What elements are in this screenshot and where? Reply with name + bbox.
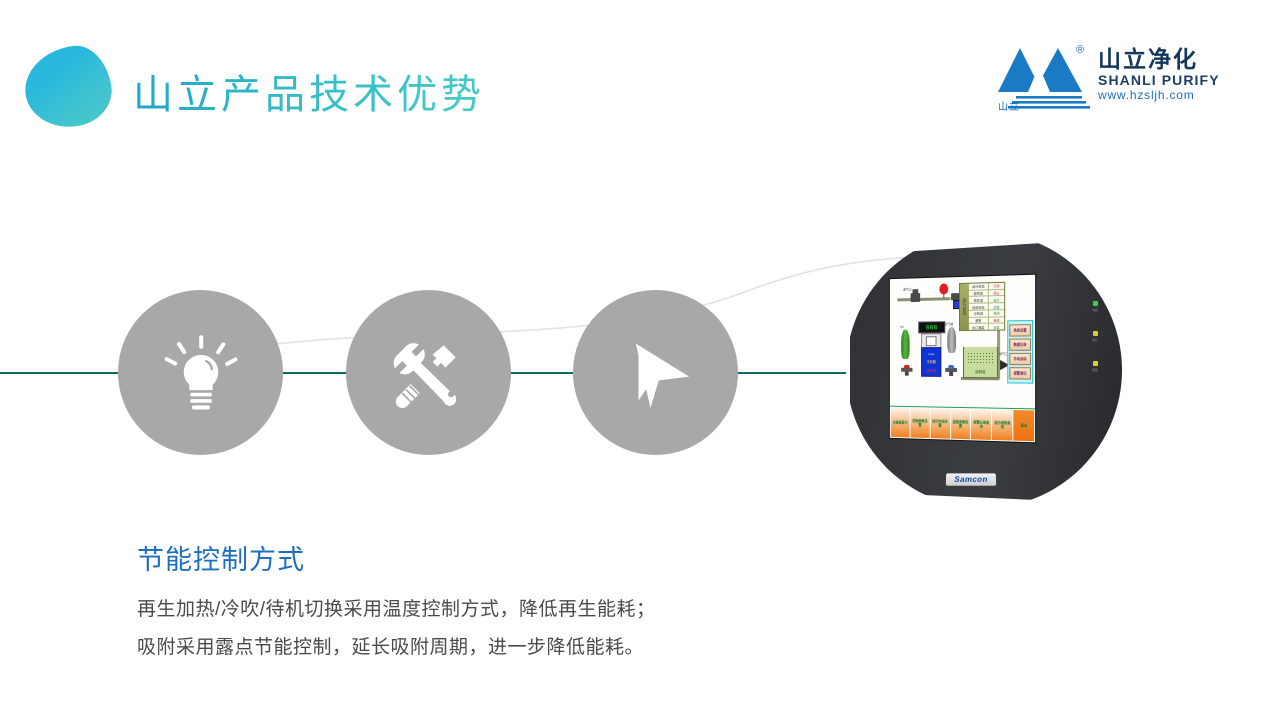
nitrogen-tank [901,330,910,359]
led-power-icon [1093,301,1098,306]
led-run-icon [1093,331,1098,336]
status-value: 停止 [989,290,1004,296]
status-rows: 运行状态 已停 吸附塔 停止 再生塔 运行 [969,283,1004,330]
hmi-tab-temp-params[interactable]: 温度参数设置 [951,409,971,439]
hmi-button-alarm-reset[interactable]: 报警复位 [1009,367,1031,379]
cooler-status-label: 运行中 [922,368,940,373]
logo-company-en: SHANLI PURIFY [1098,72,1223,88]
status-value: 正常 [989,324,1004,330]
hmi-side-button-panel: 系统设置 数据记录 手动启动 报警复位 [1007,320,1033,384]
hmi-tab-main[interactable]: 主画面显示 [891,408,910,438]
cooler-mid-label: 冷却器 [922,359,940,364]
body-paragraph-line-2: 吸附采用露点节能控制，延长吸附周期，进一步降低能耗。 [137,632,644,659]
cooler-top-label: Cool [922,352,940,356]
status-value: 关闭 [989,310,1004,316]
hmi-tab-exit[interactable]: 退出 [1014,410,1035,441]
vessel-label: 吸附塔 [964,369,997,374]
cursor-arrow-icon [610,327,702,419]
hmi-bottom-tabs: 主画面显示 控制参数设置 运行时间设置 温度参数设置 报警记录查询 运行趋势曲线… [890,406,1035,443]
led-alarm-label: 报警 [1085,368,1105,372]
status-title-text: 运行状态 [961,298,967,316]
page-title: 山立产品技术优势 [133,62,485,120]
status-table: 运行状态 运行状态 已停 吸附塔 停止 [959,282,1005,331]
inlet-label: 进气口 [903,287,912,291]
status-value: 有效 [989,317,1004,323]
led-alarm-icon [1093,361,1098,366]
status-key: 冷吹阀 [969,310,989,316]
hmi-tab-alarm-log[interactable]: 报警记录查询 [971,409,991,440]
hmi-tab-control-params[interactable]: 控制参数设置 [910,408,929,438]
logo-website: www.hzsljh.com [1098,88,1223,103]
right-bottom-valve [945,365,957,374]
status-key: 报警 [969,317,989,323]
controller-window [926,336,937,346]
company-logo: ® 山立 山立净化 SHANLI PURIFY www.hzsljh.com [998,38,1218,124]
hmi-screen[interactable]: 进气口 N2 888 Cool 冷却器 [889,274,1036,444]
hmi-tab-runtime[interactable]: 运行时间设置 [930,408,949,438]
display-value: 888 [926,324,938,331]
status-key: 再生塔 [969,297,989,303]
inlet-valve-stem [912,289,918,293]
adsorption-vessel: 吸附塔 [963,347,998,378]
status-key: 运行状态 [969,283,989,289]
logo-mark-caption: 山立 [998,98,1020,113]
timeline-icon-tools[interactable] [346,290,511,455]
status-key: 吸附塔 [969,290,989,296]
indicator-stem [943,293,944,298]
led-run-label: 运行 [1085,338,1105,342]
brand-badge: Samcon [946,473,996,485]
hmi-button-settings[interactable]: 系统设置 [1009,324,1031,337]
hmi-button-manual-start[interactable]: 手动启动 [1009,353,1031,365]
vessel-media [967,352,994,364]
status-key: 出口温度 [969,324,989,330]
hmi-process-diagram: 进气口 N2 888 Cool 冷却器 [890,275,1035,407]
digital-display: 888 [918,321,945,333]
status-key: 加热状态 [969,304,989,310]
hmi-panel-photo: 进气口 N2 888 Cool 冷却器 [846,232,1122,508]
timeline-icon-cursor[interactable] [573,290,738,455]
nitrogen-tank-label: N2 [900,325,904,329]
cooler-unit: Cool 冷却器 运行中 [921,347,941,377]
table-row: 出口温度 正常 [969,324,1004,330]
status-table-title: 运行状态 [960,284,969,330]
air-tank [947,327,956,353]
panel-bezel: 进气口 N2 888 Cool 冷却器 [850,239,1122,503]
status-value: 运行 [989,296,1004,302]
brand-badge-text: Samcon [954,475,988,484]
status-value: 已停 [989,283,1004,289]
logo-text-block: 山立净化 SHANLI PURIFY www.hzsljh.com [1098,46,1223,103]
slide-canvas: 山立产品技术优势 ® 山立 山立净化 SHANLI PURIFY www.hzs… [0,0,1280,720]
lightbulb-icon [156,328,246,418]
status-value: 正常 [989,303,1004,309]
registered-mark: ® [1076,44,1084,56]
inlet-valve [911,293,921,302]
logo-company-cn: 山立净化 [1098,46,1223,72]
decorative-blob [20,41,116,132]
timeline-icon-lightbulb[interactable] [118,290,283,455]
tools-icon [383,327,475,419]
air-tank-label: 空气罐 [944,322,953,326]
led-power-label: 电源 [1085,308,1105,312]
hmi-tab-trend-curve[interactable]: 运行趋势曲线 [992,410,1012,441]
section-subheading: 节能控制方式 [137,538,305,577]
hmi-button-data-log[interactable]: 数据记录 [1009,338,1031,350]
body-paragraph-line-1: 再生加热/冷吹/待机切换采用温度控制方式，降低再生能耗； [137,594,656,621]
left-bottom-valve [901,365,912,374]
